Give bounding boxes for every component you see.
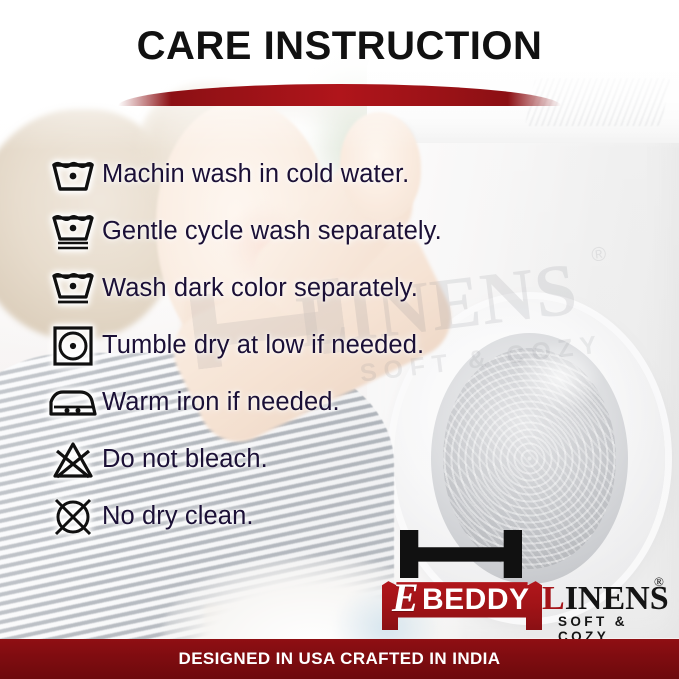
brand-name: LINENS	[542, 580, 669, 618]
care-instruction-card: LINENS ® SOFT & COZY CARE INSTRUCTION Ma…	[0, 0, 679, 679]
list-item: Tumble dry at low if needed.	[44, 317, 644, 374]
no-dry-clean-icon	[44, 495, 102, 539]
beddy-badge: E BEDDY	[382, 578, 542, 630]
list-item-label: Machin wash in cold water.	[102, 160, 409, 189]
list-item-label: Gentle cycle wash separately.	[102, 217, 442, 246]
badge-initial: E	[392, 574, 419, 621]
list-item: Warm iron if needed.	[44, 374, 644, 431]
list-item-label: Do not bleach.	[102, 445, 268, 474]
instruction-list: Machin wash in cold water. Gentle cycle …	[44, 146, 644, 545]
wash-dark-icon	[44, 270, 102, 308]
brand-logo: E BEDDY LINENS ® SOFT & COZY	[382, 530, 672, 635]
photo-top-fade	[0, 0, 679, 150]
gentle-cycle-icon	[44, 212, 102, 252]
brand-first-letter: L	[542, 580, 565, 617]
list-item-label: Tumble dry at low if needed.	[102, 331, 424, 360]
badge-word: BEDDY	[422, 583, 530, 617]
page-title: CARE INSTRUCTION	[0, 24, 679, 69]
list-item-label: No dry clean.	[102, 502, 254, 531]
registered-icon: ®	[654, 574, 664, 590]
warm-iron-icon	[44, 386, 102, 420]
list-item: Wash dark color separately.	[44, 260, 644, 317]
title-underline-swoosh	[118, 84, 561, 106]
bed-silhouette-icon	[400, 530, 522, 578]
tumble-dry-low-icon	[44, 325, 102, 367]
do-not-bleach-icon	[44, 440, 102, 480]
list-item-label: Wash dark color separately.	[102, 274, 418, 303]
footer-banner-text: DESIGNED IN USA CRAFTED IN INDIA	[179, 649, 501, 669]
list-item-label: Warm iron if needed.	[102, 388, 340, 417]
list-item: Gentle cycle wash separately.	[44, 203, 644, 260]
list-item: Do not bleach.	[44, 431, 644, 488]
footer-banner: DESIGNED IN USA CRAFTED IN INDIA	[0, 639, 679, 679]
list-item: Machin wash in cold water.	[44, 146, 644, 203]
machine-wash-icon	[44, 158, 102, 192]
